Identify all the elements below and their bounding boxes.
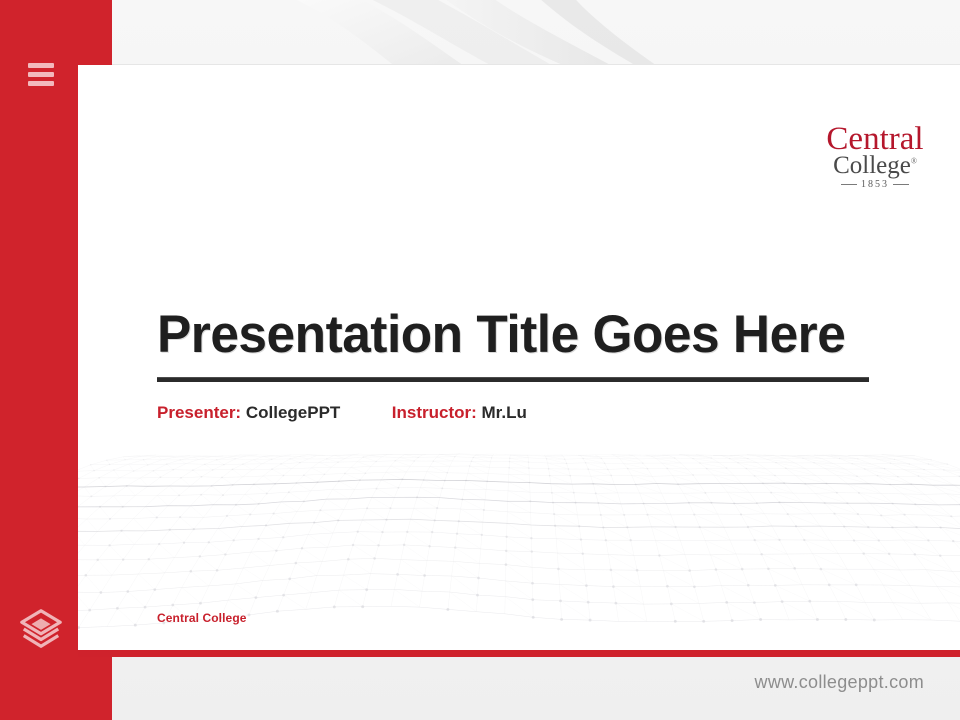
slide-content-card: Central College® 1853 Presentation Title… [78, 65, 960, 656]
logo-line-college: College® [800, 153, 950, 178]
title-underline-rule [157, 377, 869, 382]
credits-line: Presenter: CollegePPT Instructor: Mr.Lu [157, 403, 869, 423]
presenter-value: CollegePPT [246, 403, 340, 422]
page-title: Presentation Title Goes Here [157, 307, 848, 363]
hamburger-menu-icon[interactable] [24, 57, 58, 91]
presenter-label: Presenter: [157, 403, 241, 422]
instructor-label: Instructor: [392, 403, 477, 422]
registered-trademark-mark: ® [911, 157, 917, 166]
logo-year-text: 1853 [861, 179, 889, 190]
logo-founding-year: 1853 [800, 180, 950, 190]
menu-bar-bottom [28, 81, 54, 86]
logo-dash-left [841, 184, 857, 185]
slide-footer-label: Central College [157, 611, 247, 625]
logo-college-text: College [833, 152, 911, 179]
presentation-slide-viewer: Central College® 1853 Presentation Title… [0, 0, 960, 720]
menu-bar-top [28, 63, 54, 68]
menu-bar-middle [28, 72, 54, 77]
central-college-logo: Central College® 1853 [800, 123, 950, 190]
layers-stack-icon[interactable] [18, 605, 64, 651]
instructor-value: Mr.Lu [482, 403, 527, 422]
footer-website-url: www.collegeppt.com [755, 672, 924, 693]
card-bottom-red-bar [78, 650, 960, 657]
logo-dash-right [893, 184, 909, 185]
title-block: Presentation Title Goes Here Presenter: … [157, 307, 869, 423]
